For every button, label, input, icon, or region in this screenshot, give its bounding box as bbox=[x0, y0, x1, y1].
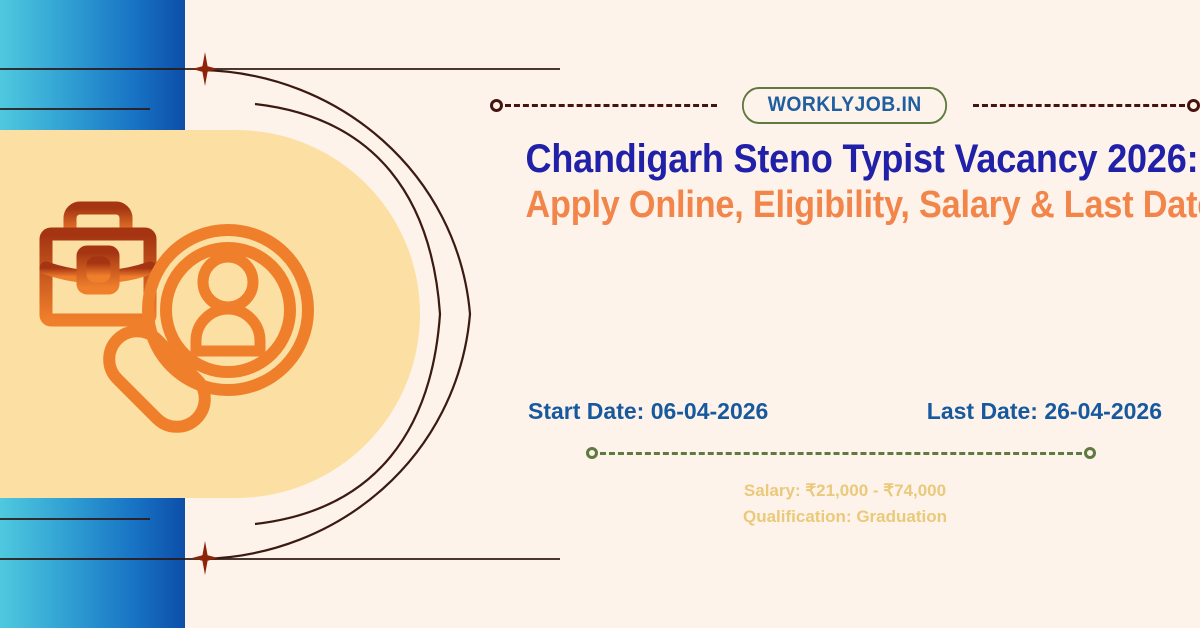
dashed-line-left bbox=[505, 104, 717, 107]
brand-badge-row: WORKLYJOB.IN bbox=[490, 84, 1200, 126]
salary-text: Salary: ₹21,000 - ₹74,000 bbox=[490, 478, 1200, 504]
brand-pill[interactable]: WORKLYJOB.IN bbox=[742, 87, 948, 124]
page-title: Chandigarh Steno Typist Vacancy 2026: Ap… bbox=[490, 136, 1200, 227]
decorative-line-top-short bbox=[0, 108, 150, 110]
title-line-secondary: Apply Online, Eligibility, Salary & Last… bbox=[526, 183, 1165, 227]
qualification-text: Qualification: Graduation bbox=[490, 504, 1200, 530]
last-date: Last Date: 26-04-2026 bbox=[927, 398, 1162, 425]
job-vacancy-banner: WORKLYJOB.IN Chandigarh Steno Typist Vac… bbox=[0, 0, 1200, 628]
date-row: Start Date: 06-04-2026 Last Date: 26-04-… bbox=[490, 398, 1200, 425]
content-column: WORKLYJOB.IN Chandigarh Steno Typist Vac… bbox=[490, 0, 1200, 628]
sparkle-star-bottom-icon bbox=[192, 541, 218, 575]
sparkle-star-top-icon bbox=[192, 52, 218, 86]
job-meta-block: Salary: ₹21,000 - ₹74,000 Qualification:… bbox=[490, 478, 1200, 531]
start-date: Start Date: 06-04-2026 bbox=[528, 398, 768, 425]
title-line-primary: Chandigarh Steno Typist Vacancy 2026: bbox=[526, 136, 1165, 183]
dash-segment-right bbox=[971, 98, 1200, 112]
green-dashed-separator bbox=[586, 446, 1096, 460]
dash-segment-left bbox=[490, 98, 719, 112]
decorative-line-bottom-short bbox=[0, 518, 150, 520]
separator-dot-right-icon bbox=[1084, 447, 1096, 459]
separator-dot-left-icon bbox=[586, 447, 598, 459]
dashed-line-right bbox=[973, 104, 1185, 107]
separator-line bbox=[600, 452, 1082, 455]
decorative-line-top-long bbox=[0, 68, 560, 70]
briefcase-icon bbox=[46, 208, 150, 320]
person-icon bbox=[196, 257, 260, 351]
dash-endpoint-left-icon bbox=[490, 99, 503, 112]
decorative-line-bottom-long bbox=[0, 558, 560, 560]
job-search-illustration bbox=[0, 130, 420, 498]
dash-endpoint-right-icon bbox=[1187, 99, 1200, 112]
